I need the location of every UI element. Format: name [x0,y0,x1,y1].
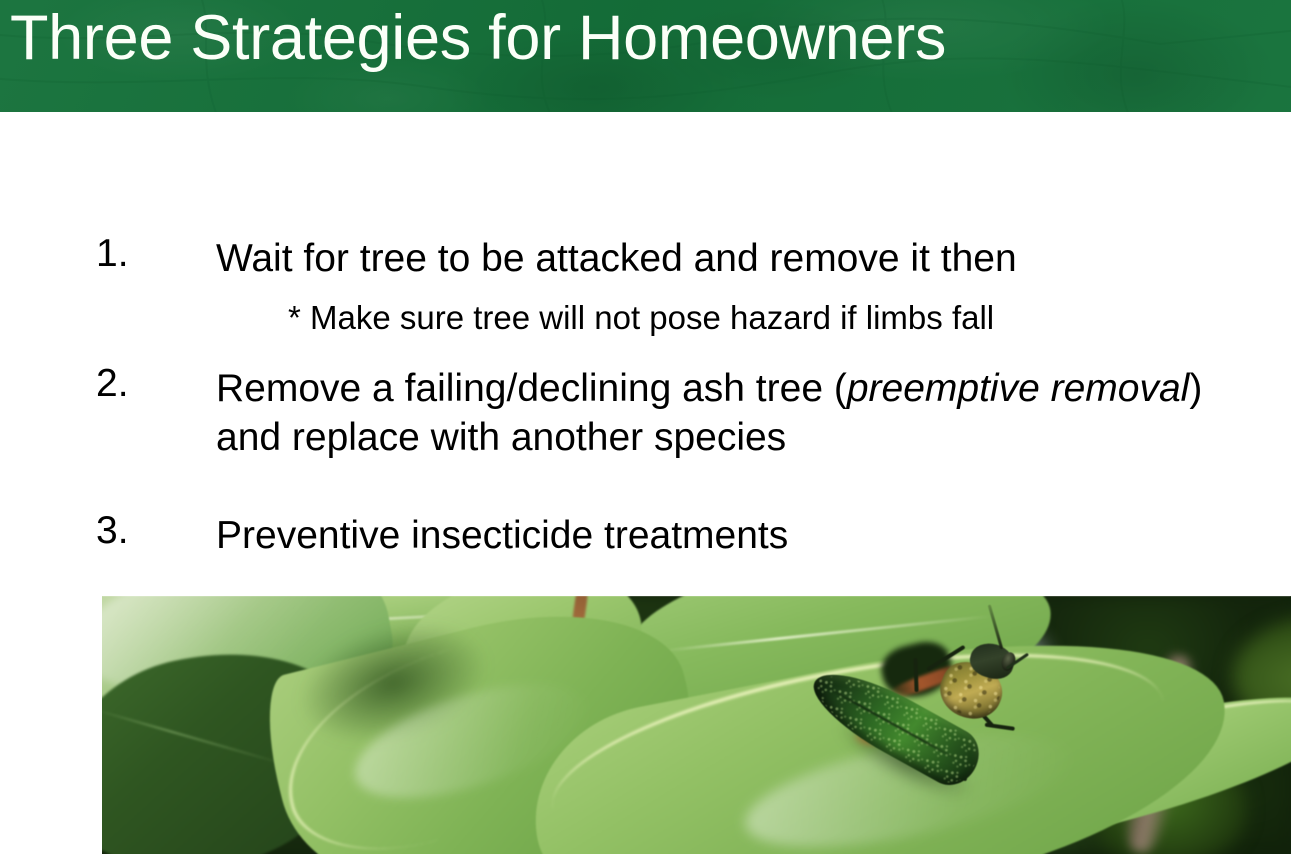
emerald-ash-borer-beetle [802,630,1062,820]
page-title: Three Strategies for Homeowners [10,7,946,70]
list-item-2: 2. Remove a failing/declining ash tree (… [0,364,1291,462]
list-item-3-number: 3. [96,511,129,550]
list-item-1-text: Wait for tree to be attacked and remove … [216,234,1231,283]
beetle-mid-tarsus [985,723,1015,731]
list-item-2-text: Remove a failing/declining ash tree (pre… [216,364,1231,462]
emerald-ash-borer-photo [102,596,1291,854]
photo-scene [102,596,1291,854]
list-item-2-text-italic: preemptive removal [847,367,1189,410]
list-item-2-text-before: Remove a failing/declining ash tree ( [216,367,847,410]
list-item-3: 3. Preventive insecticide treatments [0,511,1291,560]
list-item-1-subnote-text: * Make sure tree will not pose hazard if… [288,301,1291,334]
list-item-1-number: 1. [96,234,129,273]
list-item-2-number: 2. [96,364,129,403]
list-item-3-text: Preventive insecticide treatments [216,511,1231,560]
list-item-1-subnote: * Make sure tree will not pose hazard if… [0,301,1291,334]
slide-title-banner: Three Strategies for Homeowners [0,0,1291,112]
list-item-1: 1. Wait for tree to be attacked and remo… [0,234,1291,283]
beetle-fore-tarsus [913,658,918,692]
